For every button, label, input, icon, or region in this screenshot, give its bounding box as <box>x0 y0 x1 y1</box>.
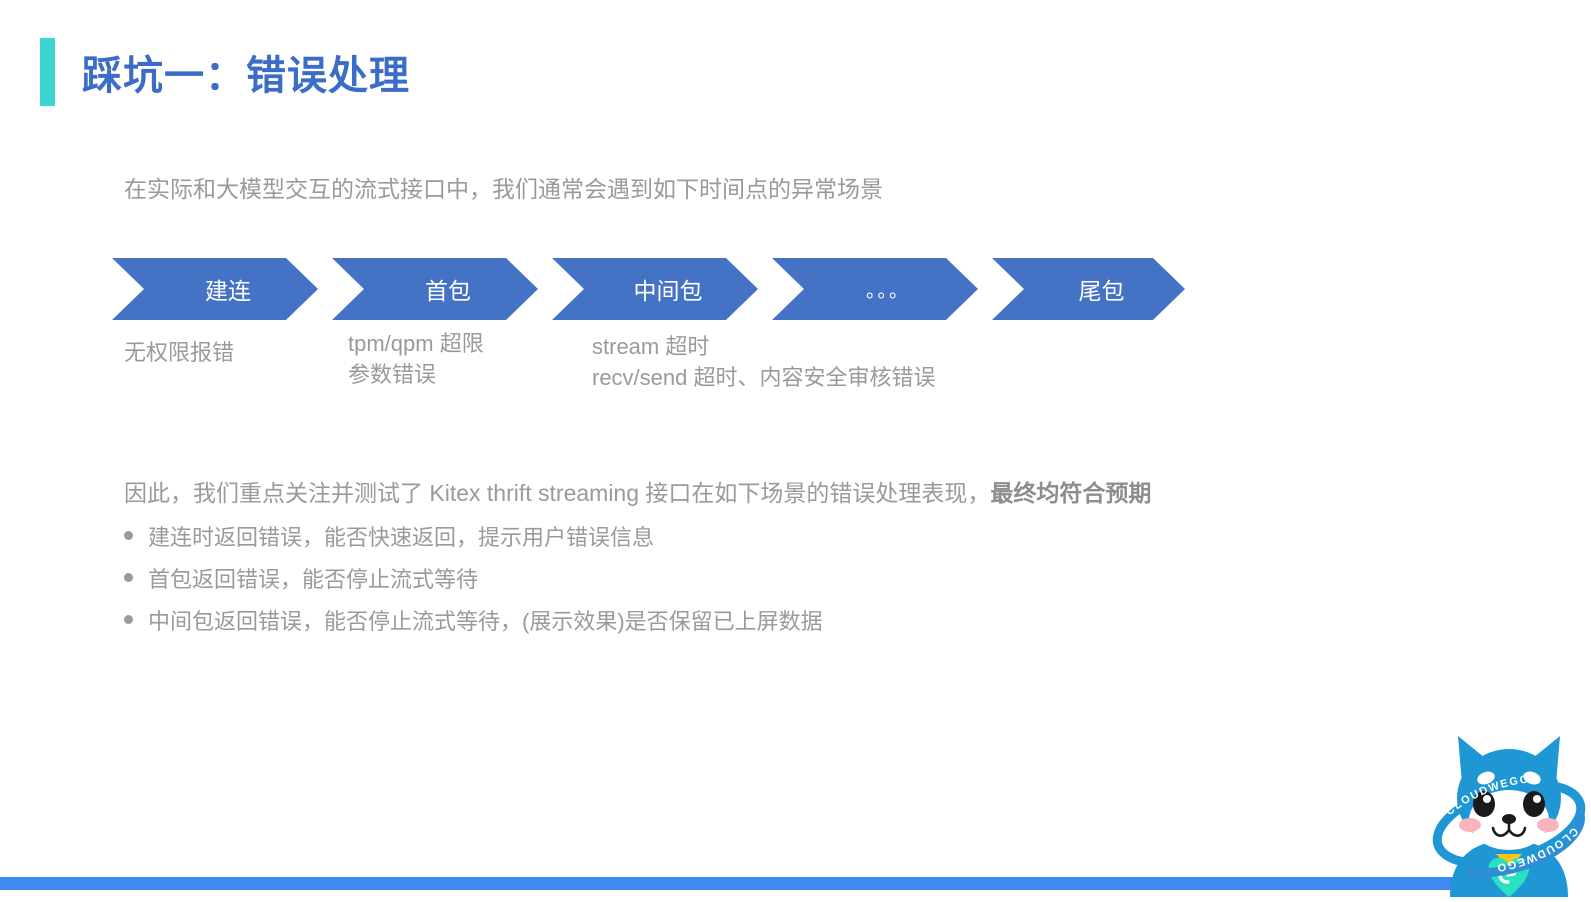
flow-step-3-caption: stream 超时 recv/send 超时、内容安全审核错误 <box>592 331 936 393</box>
mascot-right-eye-glint <box>1533 795 1541 803</box>
flow-step-4: 。。。 <box>772 258 978 320</box>
flow-step-3: 中间包 <box>552 258 758 320</box>
mascot-right-blush <box>1537 818 1559 832</box>
bullet-dot-icon <box>124 615 133 624</box>
page-title: 踩坑一：错误处理 <box>82 43 410 101</box>
list-item: 中间包返回错误，能否停止流式等待，(展示效果)是否保留已上屏数据 <box>124 604 823 646</box>
flow-step-5-label: 尾包 <box>1053 272 1125 306</box>
flow-step-3-label: 中间包 <box>608 272 703 306</box>
bullet-dot-icon <box>124 531 133 540</box>
cloudwego-mascot-logo: CLOUDWEGO CLOUDWEGO <box>1428 722 1591 897</box>
bullet-list: 建连时返回错误，能否快速返回，提示用户错误信息 首包返回错误，能否停止流式等待 … <box>124 520 823 646</box>
bullet-dot-icon <box>124 573 133 582</box>
summary-lead-text: 因此，我们重点关注并测试了 Kitex thrift streaming 接口在… <box>124 480 990 506</box>
summary-paragraph: 因此，我们重点关注并测试了 Kitex thrift streaming 接口在… <box>124 474 1151 508</box>
list-item-label: 首包返回错误，能否停止流式等待 <box>148 562 478 594</box>
flow-step-1-label: 建连 <box>179 272 251 306</box>
flow-step-5: 尾包 <box>992 258 1185 320</box>
footer-accent-bar <box>0 877 1459 890</box>
flow-step-1-caption: 无权限报错 <box>124 337 234 368</box>
title-accent-bar <box>40 38 55 106</box>
flow-step-2-caption: tpm/qpm 超限 参数错误 <box>348 328 484 390</box>
flow-step-2-label: 首包 <box>399 272 471 306</box>
cloudwego-mascot-icon: CLOUDWEGO CLOUDWEGO <box>1428 722 1591 897</box>
mascot-right-eye <box>1523 791 1545 817</box>
list-item-label: 建连时返回错误，能否快速返回，提示用户错误信息 <box>148 520 654 552</box>
list-item: 建连时返回错误，能否快速返回，提示用户错误信息 <box>124 520 823 562</box>
list-item: 首包返回错误，能否停止流式等待 <box>124 562 823 604</box>
flow-step-4-label: 。。。 <box>840 276 910 303</box>
summary-emphasis-text: 最终均符合预期 <box>990 480 1151 506</box>
mascot-left-blush <box>1459 818 1481 832</box>
flow-step-1: 建连 <box>112 258 318 320</box>
list-item-label: 中间包返回错误，能否停止流式等待，(展示效果)是否保留已上屏数据 <box>148 604 823 636</box>
intro-paragraph: 在实际和大模型交互的流式接口中，我们通常会遇到如下时间点的异常场景 <box>124 170 883 204</box>
slide-title-block: 踩坑一：错误处理 <box>40 38 410 106</box>
flow-step-2: 首包 <box>332 258 538 320</box>
mascot-nose <box>1502 814 1516 824</box>
